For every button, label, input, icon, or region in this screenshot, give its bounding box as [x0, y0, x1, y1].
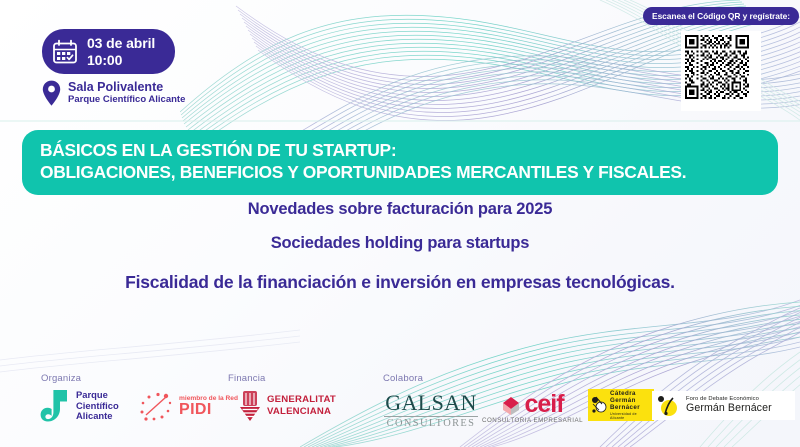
map-pin-icon: [42, 80, 61, 106]
galsan-wordmark: GALSAN: [385, 392, 477, 414]
subtitle-1: Novedades sobre facturación para 2025: [0, 200, 800, 219]
foro-mark: [656, 395, 682, 417]
logo-foro-debate-economico: Foro de Debate Económico Germán Bernácer: [652, 391, 795, 420]
event-poster: 03 de abril 10:00 Sala Polivalente Parqu…: [0, 0, 800, 447]
parque-cientifico-wordmark: Parque Científico Alicante: [76, 390, 119, 422]
catedra-bee-mark: [590, 395, 608, 415]
logo-generalitat-valenciana: GENERALITAT VALENCIANA: [238, 390, 336, 422]
title-line-1: BÁSICOS EN LA GESTIÓN DE TU STARTUP:: [40, 139, 760, 161]
cgb-line-2: Germán: [610, 397, 652, 404]
subtitle-2: Sociedades holding para startups: [0, 234, 800, 253]
ceif-wordmark: ceif: [524, 393, 563, 416]
venue-location: Parque Científico Alicante: [68, 94, 185, 106]
pidi-wordmark: PIDI: [179, 402, 238, 419]
qr-code-wrapper[interactable]: [681, 31, 761, 111]
ceif-cube-mark: [501, 395, 521, 415]
qr-label: Escanea el Código QR y regístrate:: [643, 7, 799, 25]
title-line-2: OBLIGACIONES, BENEFICIOS Y OPORTUNIDADES…: [40, 161, 760, 183]
event-location-block: Sala Polivalente Parque Científico Alica…: [42, 80, 185, 106]
logo-pidi: miembro de la Red PIDI: [140, 392, 238, 422]
logo-galsan-consultores: GALSAN CONSULTORES: [384, 392, 478, 429]
logo-ceif: ceif CONSULTORIA EMPRESARIAL: [482, 393, 583, 424]
label-organiza: Organiza: [41, 373, 81, 384]
catedra-wordmark: Cátedra Germán Bernácer Universidad de A…: [610, 390, 652, 421]
logo-catedra-german-bernacer: Cátedra Germán Bernácer Universidad de A…: [588, 389, 654, 421]
cgb-line-4: Universidad de Alicante: [610, 412, 652, 421]
cgb-line-3: Bernácer: [610, 404, 652, 411]
subtitle-3: Fiscalidad de la financiación e inversió…: [0, 272, 800, 293]
foro-wordmark: Foro de Debate Económico Germán Bernácer: [686, 396, 772, 415]
pidi-dots-mark: [140, 392, 174, 422]
cgb-line-1: Cátedra: [610, 390, 652, 397]
pca-line-3: Alicante: [76, 411, 119, 422]
qr-registration-block: Escanea el Código QR y regístrate:: [648, 7, 794, 111]
ceif-subtitle: CONSULTORIA EMPRESARIAL: [482, 417, 583, 424]
venue-name: Sala Polivalente: [68, 80, 185, 94]
calendar-icon: [52, 39, 78, 65]
foro-box: Foro de Debate Económico Germán Bernácer: [652, 391, 795, 420]
qr-code-icon[interactable]: [685, 35, 749, 99]
logo-parque-cientifico-alicante: Parque Científico Alicante: [40, 389, 119, 423]
event-date: 03 de abril: [87, 35, 155, 52]
title-banner: BÁSICOS EN LA GESTIÓN DE TU STARTUP: OBL…: [22, 130, 778, 195]
galsan-subtitle: CONSULTORES: [387, 419, 476, 429]
date-time-badge: 03 de abril 10:00: [42, 29, 175, 74]
label-colabora: Colabora: [383, 373, 423, 384]
gva-line-1: GENERALITAT: [267, 394, 336, 406]
label-financia: Financia: [228, 373, 266, 384]
parque-cientifico-mark: [40, 389, 70, 423]
event-time: 10:00: [87, 52, 155, 69]
generalitat-wordmark: GENERALITAT VALENCIANA: [267, 394, 336, 417]
foro-line-2: Germán Bernácer: [686, 403, 772, 415]
catedra-box: Cátedra Germán Bernácer Universidad de A…: [588, 389, 654, 421]
galsan-divider: [384, 416, 478, 417]
ceif-row: ceif: [501, 393, 563, 416]
gva-line-2: VALENCIANA: [267, 406, 336, 418]
generalitat-crest: [238, 390, 262, 422]
